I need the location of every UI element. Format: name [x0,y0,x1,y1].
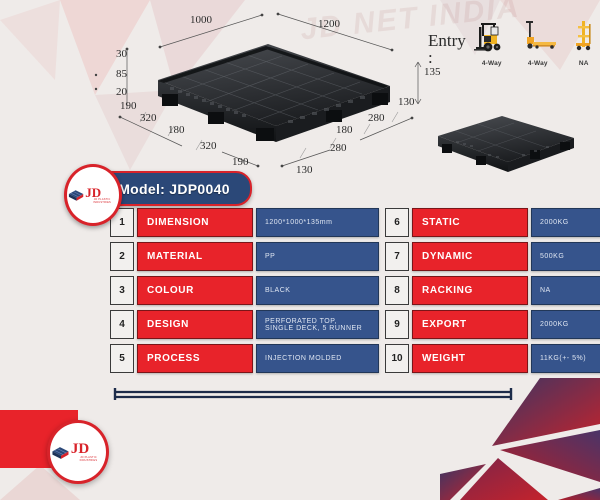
dimension-label-left-span-2: 320 [200,140,217,152]
spec-number: 3 [110,276,134,305]
spec-value-line1: 2000KG [540,321,600,328]
spec-number: 10 [385,344,409,373]
table-row: 2 MATERIAL PP [110,242,379,271]
spec-value-line1: 2000KG [540,219,600,226]
spec-value-line1: PP [265,253,378,260]
spec-value: 2000KG [531,208,600,237]
spec-value: 2000KG [531,310,600,339]
table-row: 1 DIMENSION 1200*1000*135mm [110,208,379,237]
spec-label: MATERIAL [137,242,253,271]
jd-logo-text-bottom: JD [71,442,106,457]
entry-caption-forklift: 4-Way [482,60,502,67]
dimension-label-right-gap: 180 [336,124,353,136]
spec-number: 6 [385,208,409,237]
dimension-label-left-edge-2: 190 [232,156,249,168]
model-banner-label: Model: JDP0040 [118,181,230,197]
bottom-bracket-divider [113,386,513,404]
entry-equipment-stacker: NA [564,18,600,67]
spec-label: RACKING [412,276,528,305]
spec-value-line2: SINGLE DECK, 5 RUNNER [265,325,378,332]
dimension-label-runner-height: 20 [116,86,127,98]
dimension-label-mid-height: 85 [116,68,127,80]
spec-value: 1200*1000*135mm [256,208,379,237]
dimension-label-right-edge: 130 [398,96,415,108]
dimension-label-left-edge: 190 [120,100,137,112]
spec-value: PP [256,242,379,271]
dimension-label-total-height: 135 [424,66,441,78]
spec-value: PERFORATED TOP, SINGLE DECK, 5 RUNNER [256,310,379,339]
table-row: 6 STATIC 2000KG [385,208,600,237]
dimension-label-top-length: 1200 [318,18,340,30]
spec-label: PROCESS [137,344,253,373]
stacker-icon [564,18,600,58]
dimension-label-top-width: 1000 [190,14,212,26]
jd-logo-bottom: JD JD PLASTIC INDUSTRIES [50,442,106,462]
entry-label: Entry : [428,18,466,66]
spec-sheet: JD NET INDIA [0,0,600,500]
entry-caption-stacker: NA [579,60,589,67]
dimension-label-deck-thickness: 30 [116,48,127,60]
table-row: 4 DESIGN PERFORATED TOP, SINGLE DECK, 5 … [110,310,379,339]
brand-badge-top: JD JD PLASTIC INDUSTRIES [64,164,122,226]
table-row: 9 EXPORT 2000KG [385,310,600,339]
spec-value-line1: BLACK [265,287,378,294]
pallet-truck-icon [518,18,558,58]
spec-label: DESIGN [137,310,253,339]
spec-label: STATIC [412,208,528,237]
spec-number: 8 [385,276,409,305]
spec-label: COLOUR [137,276,253,305]
spec-column-right: 6 STATIC 2000KG 7 DYNAMIC 500KG 8 RACKIN… [385,208,600,373]
spec-value: INJECTION MOLDED [256,344,379,373]
spec-number: 7 [385,242,409,271]
dimension-label-right-span-1: 280 [368,112,385,124]
jd-logo-top: JD JD PLASTIC INDUSTRIES [67,186,119,204]
spec-label: DYNAMIC [412,242,528,271]
dimension-label-right-span-2: 280 [330,142,347,154]
spec-number: 9 [385,310,409,339]
spec-label: EXPORT [412,310,528,339]
entry-equipment-forklift: 4-Way [472,18,512,67]
spec-value-line1: INJECTION MOLDED [265,355,378,362]
dimension-label-left-span-1: 320 [140,112,157,124]
pallet-logo-icon [50,445,70,460]
spec-value: 11KG(+- 5%) [531,344,600,373]
jd-logo-text-top: JD [85,186,119,199]
spec-value: 500KG [531,242,600,271]
spec-number: 5 [110,344,134,373]
entry-caption-pallet-truck: 4-Way [528,60,548,67]
spec-label: DIMENSION [137,208,253,237]
spec-value-line1: PERFORATED TOP, [265,318,378,325]
table-row: 5 PROCESS INJECTION MOLDED [110,344,379,373]
dimension-label-left-gap-1: 180 [168,124,185,136]
jd-logo-subtext-bottom: JD PLASTIC INDUSTRIES [71,457,106,462]
spec-value-line1: NA [540,287,600,294]
table-row: 3 COLOUR BLACK [110,276,379,305]
spec-value: NA [531,276,600,305]
dimension-label-right-edge-2: 130 [296,164,313,176]
specification-table: 1 DIMENSION 1200*1000*135mm 2 MATERIAL P… [110,208,600,373]
spec-number: 2 [110,242,134,271]
spec-value-line1: 11KG(+- 5%) [540,355,600,362]
spec-label: WEIGHT [412,344,528,373]
brand-badge-bottom: JD JD PLASTIC INDUSTRIES [47,420,109,484]
forklift-icon [472,18,512,58]
table-row: 7 DYNAMIC 500KG [385,242,600,271]
entry-equipment-pallet-truck: 4-Way [518,18,558,67]
spec-value-line1: 1200*1000*135mm [265,219,378,226]
spec-number: 4 [110,310,134,339]
table-row: 8 RACKING NA [385,276,600,305]
spec-column-left: 1 DIMENSION 1200*1000*135mm 2 MATERIAL P… [110,208,379,373]
spec-value-line1: 500KG [540,253,600,260]
entry-section: Entry : 4-Way [428,18,600,67]
table-row: 10 WEIGHT 11KG(+- 5%) [385,344,600,373]
pallet-logo-icon [67,188,84,202]
spec-value: BLACK [256,276,379,305]
